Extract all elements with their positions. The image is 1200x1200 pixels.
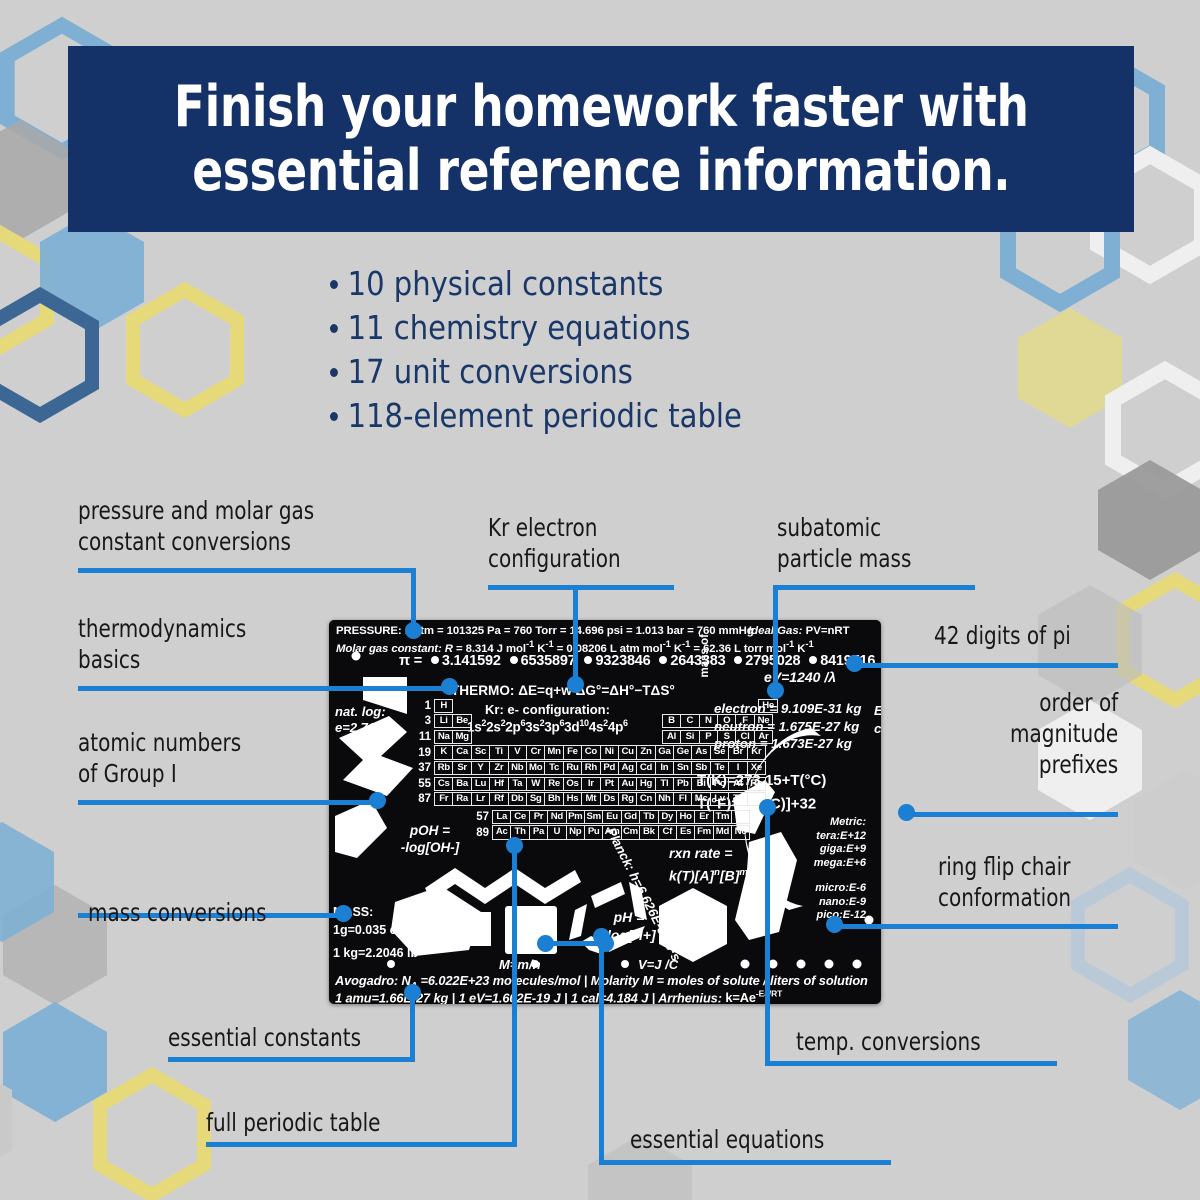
element-cell: Ds <box>600 792 619 806</box>
element-cell: Bk <box>639 825 658 839</box>
element-cell: Bh <box>544 792 563 806</box>
element-cell: Te <box>710 761 729 775</box>
element-cell: Lr <box>471 792 490 806</box>
callout-full-periodic-table: full periodic table <box>206 1107 380 1138</box>
element-cell: Rg <box>618 792 637 806</box>
banner-line-2: essential reference information. <box>192 139 1010 203</box>
element-cell: Rh <box>581 761 600 775</box>
card-mass-of-label: mass of <box>699 634 711 698</box>
element-cell: Ac <box>492 825 511 839</box>
leader-line <box>773 585 778 689</box>
element-cell: Ag <box>618 761 637 775</box>
banner-line-1: Finish your homework faster with <box>174 75 1029 139</box>
element-cell: Rb <box>434 761 453 775</box>
table-row: 3 Li Be B C N O F Ne <box>409 714 777 730</box>
element-cell: Ar <box>754 730 773 744</box>
element-cell: Pu <box>584 825 603 839</box>
element-cell: Yb <box>731 810 750 824</box>
table-row: 37 Rb Sr Y Zr Nb Mo Tc Ru Rh Pd Ag Cd In… <box>409 760 777 776</box>
leader-line <box>78 800 378 805</box>
card-pi-digits: π = 3.141592 6535897 9323846 2643383 279… <box>399 653 875 669</box>
pressure-label: PRESSURE: <box>336 625 402 637</box>
element-cell: Fm <box>694 825 713 839</box>
pi-dot-icon <box>734 656 742 664</box>
table-row: 19 K Ca Sc Ti V Cr Mn Fe Co Ni Cu Zn Ga … <box>409 745 777 761</box>
natlog-label: nat. log: <box>335 704 405 720</box>
callout-atomic-numbers-group-i: atomic numbers of Group I <box>78 727 241 789</box>
element-cell: Tl <box>655 777 674 791</box>
pi-group: 6535897 <box>521 653 576 669</box>
callout-essential-equations: essential equations <box>630 1124 824 1155</box>
element-cell: No <box>731 825 750 839</box>
atomic-number: 11 <box>409 731 434 743</box>
pi-dot-icon <box>809 656 817 664</box>
leader-endpoint <box>567 676 584 693</box>
element-cell: Bi <box>691 777 710 791</box>
element-cell: N <box>699 714 718 728</box>
leader-line <box>411 568 416 630</box>
element-cell: Rf <box>489 792 508 806</box>
bullet-dot-icon <box>330 324 338 333</box>
element-cell: Sg <box>526 792 545 806</box>
c-equals-lambda-nu: c = λν <box>874 720 881 738</box>
element-cell: Au <box>618 777 637 791</box>
element-cell: S <box>717 730 736 744</box>
leader-endpoint <box>335 905 352 922</box>
callout-line: pressure and molar gas <box>78 495 314 526</box>
element-cell: Ho <box>676 810 695 824</box>
element-cell: Be <box>452 714 471 728</box>
element-cell: Hg <box>636 777 655 791</box>
element-cell: Cl <box>735 730 754 744</box>
element-cell: Tc <box>544 761 563 775</box>
element-cell: Ni <box>600 745 619 759</box>
callout-mass-conversions: mass conversions <box>88 897 267 928</box>
bullet-label: 17 unit conversions <box>348 350 633 394</box>
leader-line <box>836 924 1118 929</box>
leader-line <box>855 663 1118 668</box>
element-cell: At <box>728 777 747 791</box>
leader-line <box>78 568 416 573</box>
element-cell: B <box>662 714 681 728</box>
list-item: 10 physical constants <box>330 262 742 306</box>
pi-dot-icon <box>431 656 439 664</box>
element-cell: Cd <box>636 761 655 775</box>
element-cell: V <box>508 745 527 759</box>
atomic-number: 57 <box>467 811 492 823</box>
metric-item: pico:E-12 <box>780 909 866 923</box>
card-volt-equation: V=J /C <box>638 957 678 972</box>
table-row: 55 Cs Ba Lu Hf Ta W Re Os Ir Pt Au Hg Tl… <box>409 776 777 792</box>
element-cell: Ts <box>728 792 747 806</box>
element-cell: Cr <box>526 745 545 759</box>
leader-endpoint <box>846 655 863 672</box>
leader-endpoint <box>767 682 784 699</box>
card-amu-line: 1 amu=1.66E-27 kg | 1 eV=1.602E-19 J | 1… <box>335 989 782 1004</box>
rxn-line: rxn rate = <box>669 844 789 863</box>
element-cell: Sm <box>584 810 603 824</box>
element-cell: Zr <box>489 761 508 775</box>
list-item: 11 chemistry equations <box>330 306 742 350</box>
callout-line: conformation <box>938 882 1071 913</box>
leader-endpoint <box>506 837 523 854</box>
atomic-number: 19 <box>409 747 434 759</box>
element-cell: Am <box>602 825 621 839</box>
leader-endpoint <box>597 935 614 952</box>
leader-line <box>206 1142 517 1147</box>
element-cell: Sb <box>691 761 710 775</box>
element-cell: Ge <box>673 745 692 759</box>
element-cell: Cu <box>618 745 637 759</box>
element-cell: Mn <box>544 745 563 759</box>
e-equals-hv: E = hν <box>874 702 881 720</box>
element-cell: Ba <box>452 777 471 791</box>
callout-temp-conversions: temp. conversions <box>796 1026 981 1057</box>
pi-label: π = <box>399 653 422 669</box>
leader-endpoint <box>405 622 422 639</box>
element-cell: Es <box>676 825 695 839</box>
atomic-number: 1 <box>409 700 434 712</box>
callout-line: of Group I <box>78 758 241 789</box>
element-cell: Os <box>563 777 582 791</box>
callout-line: subatomic <box>777 512 911 543</box>
element-cell: Db <box>508 792 527 806</box>
poh-line: -log[OH-] <box>391 839 469 856</box>
metric-item: nano:E-9 <box>780 896 866 910</box>
callout-line: constant conversions <box>78 526 314 557</box>
element-cell: Dy <box>658 810 677 824</box>
leader-endpoint <box>826 916 843 933</box>
element-cell: Mo <box>526 761 545 775</box>
natlog-value: e=2.718 <box>335 720 405 736</box>
element-cell: I <box>728 761 747 775</box>
metric-item: giga:E+9 <box>780 843 866 857</box>
callout-line: full periodic table <box>206 1107 380 1138</box>
element-cell: Na <box>434 730 453 744</box>
element-cell: Lv <box>710 792 729 806</box>
list-item: 118-element periodic table <box>330 394 742 438</box>
callout-line: 42 digits of pi <box>934 620 1071 651</box>
callout-line: Kr electron <box>488 512 621 543</box>
element-cell: Pa <box>529 825 548 839</box>
element-cell: Fr <box>434 792 453 806</box>
element-cell: P <box>699 730 718 744</box>
leader-endpoint <box>404 984 421 1001</box>
element-cell: Sc <box>471 745 490 759</box>
element-cell: Fe <box>563 745 582 759</box>
leader-endpoint <box>898 804 915 821</box>
callout-line: ring flip chair <box>938 851 1071 882</box>
element-cell: Md <box>713 825 732 839</box>
leader-endpoint <box>441 678 458 695</box>
callout-line: temp. conversions <box>796 1026 981 1057</box>
element-cell: O <box>717 714 736 728</box>
atomic-number: 37 <box>409 762 434 774</box>
element-cell: Np <box>566 825 585 839</box>
list-item: 17 unit conversions <box>330 350 742 394</box>
element-cell: Ir <box>581 777 600 791</box>
element-cell: Mc <box>691 792 710 806</box>
element-cell: Rn <box>747 777 766 791</box>
element-cell: Al <box>662 730 681 744</box>
element-cell: Sr <box>452 761 471 775</box>
bullet-label: 10 physical constants <box>348 262 664 306</box>
callout-line: particle mass <box>777 543 911 574</box>
element-cell: Fl <box>673 792 692 806</box>
element-cell: He <box>758 699 777 713</box>
element-cell: Tb <box>639 810 658 824</box>
leader-endpoint <box>537 935 554 952</box>
element-cell: Mg <box>452 730 471 744</box>
pi-dot-icon <box>584 656 592 664</box>
element-cell: Pb <box>673 777 692 791</box>
metric-item: micro:E-6 <box>780 882 866 896</box>
metric-title: Metric: <box>780 816 866 830</box>
element-cell: Ne <box>754 714 773 728</box>
leader-endpoint <box>759 799 776 816</box>
element-cell: In <box>655 761 674 775</box>
element-cell: Tm <box>713 810 732 824</box>
element-cell: Mt <box>581 792 600 806</box>
leader-line <box>599 936 604 1165</box>
card-thermo-equations: THERMO: ΔE=q+w ΔG°=ΔH°−TΔS° <box>451 683 675 698</box>
table-row: 87 Fr Ra Lr Rf Db Sg Bh Hs Mt Ds Rg Cn N… <box>409 792 777 808</box>
element-cell: Se <box>710 745 729 759</box>
bullet-dot-icon <box>330 280 338 289</box>
element-cell: Hs <box>563 792 582 806</box>
element-cell: Ta <box>508 777 527 791</box>
card-mass-kg-line: 1 kg=2.2046 lb <box>333 946 418 960</box>
leader-line <box>773 585 975 590</box>
element-cell: Zn <box>636 745 655 759</box>
element-cell: Si <box>680 730 699 744</box>
callout-ring-flip-chair-conformation: ring flip chair conformation <box>938 851 1071 913</box>
atomic-number: 3 <box>409 715 434 727</box>
leader-line <box>488 585 674 590</box>
leader-line <box>907 812 1118 817</box>
card-rxn-rate: rxn rate = k(T)[A]n[B]m <box>669 844 789 886</box>
element-cell: H <box>434 699 453 713</box>
callout-line: basics <box>78 644 246 675</box>
element-cell: Cs <box>434 777 453 791</box>
element-cell: Ce <box>510 810 529 824</box>
bullet-label: 118-element periodic table <box>348 394 742 438</box>
callout-line: magnitude <box>1010 718 1118 749</box>
mass-line: 1g=0.035 oz <box>333 921 443 939</box>
element-cell: Y <box>471 761 490 775</box>
element-cell: Co <box>581 745 600 759</box>
element-cell: Nh <box>655 792 674 806</box>
card-ideal-gas-line: Ideal Gas: PV=nRT <box>748 625 850 637</box>
leader-endpoint <box>369 792 386 809</box>
leader-line <box>765 1061 1057 1066</box>
leader-line <box>168 1057 415 1062</box>
callout-line: configuration <box>488 543 621 574</box>
callout-order-of-magnitude-prefixes: order of magnitude prefixes <box>1010 687 1118 780</box>
element-cell: Pr <box>529 810 548 824</box>
element-cell: Br <box>728 745 747 759</box>
callout-subatomic-particle-mass: subatomic particle mass <box>777 512 911 574</box>
element-cell: Cn <box>636 792 655 806</box>
metric-item: mega:E+6 <box>780 857 866 871</box>
callout-42-digits-of-pi: 42 digits of pi <box>934 620 1071 651</box>
element-cell: W <box>526 777 545 791</box>
periodic-table: 1 H He 3 Li Be B C N O F Ne 11 Na Mg <box>409 698 777 840</box>
callout-line: thermodynamics <box>78 613 246 644</box>
element-cell: Xe <box>747 761 766 775</box>
callout-line: mass conversions <box>88 897 267 928</box>
element-cell: Ca <box>452 745 471 759</box>
ph-line: pH = <box>587 908 671 926</box>
element-cell: Nb <box>508 761 527 775</box>
card-molarity-m-equation: M=m/n <box>499 957 541 972</box>
element-cell: Li <box>434 714 453 728</box>
callout-essential-constants: essential constants <box>168 1022 361 1053</box>
pi-dot-icon <box>659 656 667 664</box>
element-cell: As <box>691 745 710 759</box>
element-cell: Eu <box>602 810 621 824</box>
element-cell: La <box>492 810 511 824</box>
pi-group: 2643383 <box>670 653 725 669</box>
table-row: 1 H He <box>409 698 777 714</box>
element-cell: Gd <box>621 810 640 824</box>
element-cell: Pd <box>600 761 619 775</box>
feature-bullet-list: 10 physical constants 11 chemistry equat… <box>330 262 798 438</box>
element-cell: Pt <box>600 777 619 791</box>
callout-line: order of <box>1010 687 1118 718</box>
table-row-lanthanides: 57 La Ce Pr Nd Pm Sm Eu Gd Tb Dy Ho Er T… <box>409 809 777 825</box>
table-row-actinides: 89 Ac Th Pa U Np Pu Am Cm Bk Cf Es Fm Md… <box>409 825 777 841</box>
element-cell: Cf <box>658 825 677 839</box>
element-cell: Hf <box>489 777 508 791</box>
leader-line <box>78 686 450 691</box>
spacer-cell <box>452 699 759 713</box>
metric-gap <box>780 870 866 882</box>
pi-dot-icon <box>510 656 518 664</box>
callout-line: atomic numbers <box>78 727 241 758</box>
element-cell: Po <box>710 777 729 791</box>
pi-group: 3.141592 <box>442 653 501 669</box>
element-cell: Re <box>544 777 563 791</box>
element-cell: Ga <box>655 745 674 759</box>
element-cell: Ti <box>489 745 508 759</box>
card-pressure-line: PRESSURE: 1 atm = 101325 Pa = 760 Torr =… <box>336 625 754 637</box>
card-natural-log: nat. log: e=2.718 <box>335 704 405 736</box>
element-cell: Sn <box>673 761 692 775</box>
callout-pressure-molar-gas: pressure and molar gas constant conversi… <box>78 495 314 557</box>
element-cell: Cm <box>621 825 640 839</box>
pi-group: 9323846 <box>595 653 650 669</box>
callout-line: essential constants <box>168 1022 361 1053</box>
element-cell: C <box>680 714 699 728</box>
element-cell: Ra <box>452 792 471 806</box>
element-cell: K <box>434 745 453 759</box>
callout-thermodynamics-basics: thermodynamics basics <box>78 613 246 675</box>
bullet-dot-icon <box>330 412 338 421</box>
leader-line <box>765 807 770 1066</box>
infographic-canvas: Finish your homework faster with essenti… <box>0 0 1200 1200</box>
element-cell: Kr <box>747 745 766 759</box>
card-energy-equations: E = hν c = λν <box>874 702 881 738</box>
callout-line: prefixes <box>1010 749 1118 780</box>
element-cell: U <box>547 825 566 839</box>
element-cell: Ru <box>563 761 582 775</box>
leader-line <box>573 585 578 683</box>
header-banner: Finish your homework faster with essenti… <box>68 46 1134 232</box>
callout-line: essential equations <box>630 1124 824 1155</box>
element-cell: Lu <box>471 777 490 791</box>
spacer-cell <box>471 730 663 744</box>
spacer-cell <box>471 714 663 728</box>
callout-kr-electron-configuration: Kr electron configuration <box>488 512 621 574</box>
atomic-number: 87 <box>409 793 434 805</box>
leader-line <box>599 1160 891 1165</box>
element-cell: Nd <box>547 810 566 824</box>
element-cell: F <box>735 714 754 728</box>
atomic-number: 55 <box>409 778 434 790</box>
element-cell: Pm <box>566 810 585 824</box>
bullet-label: 11 chemistry equations <box>348 306 691 350</box>
metric-item: tera:E+12 <box>780 830 866 844</box>
table-row: 11 Na Mg Al Si P S Cl Ar <box>409 729 777 745</box>
bullet-dot-icon <box>330 368 338 377</box>
atomic-number: 89 <box>467 827 492 839</box>
leader-line <box>512 845 517 1147</box>
card-metric-prefixes: Metric: tera:E+12 giga:E+9 mega:E+6 micr… <box>780 816 866 923</box>
rxn-line: k(T)[A]n[B]m <box>669 863 789 886</box>
element-cell: Er <box>694 810 713 824</box>
ideal-gas-value: PV=nRT <box>806 625 850 637</box>
